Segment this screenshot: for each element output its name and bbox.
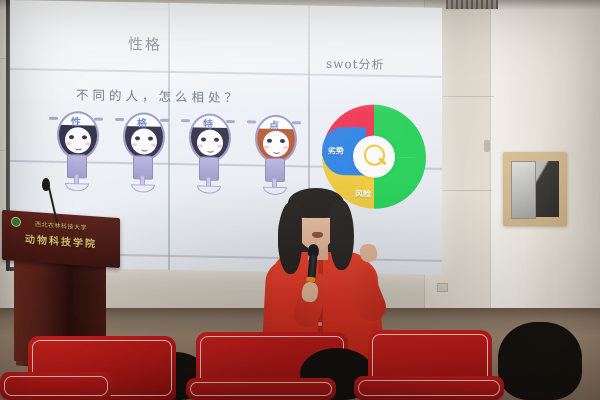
chair-seat-front bbox=[186, 378, 336, 400]
figure-blush-right bbox=[85, 142, 90, 145]
booth-window-sash bbox=[511, 161, 536, 219]
figure-label: 性 bbox=[54, 113, 98, 129]
figure-face bbox=[197, 129, 223, 155]
figure-face bbox=[65, 127, 91, 153]
ceiling-vent bbox=[446, 0, 498, 9]
audience-head bbox=[498, 322, 582, 400]
swot-center-circle bbox=[353, 135, 395, 178]
figure-face bbox=[131, 128, 157, 154]
figure-eye-right bbox=[214, 138, 219, 142]
figure-mouth bbox=[273, 149, 280, 154]
figure-blush-right bbox=[283, 146, 288, 149]
figure-label: 特 bbox=[186, 115, 230, 131]
presenter-hair-right bbox=[330, 200, 354, 270]
projection-booth-window bbox=[503, 152, 567, 226]
figure-mouth bbox=[75, 145, 82, 150]
wall-sensor-icon bbox=[484, 140, 490, 152]
microphone-capsule-icon bbox=[42, 178, 50, 191]
figure-mouth bbox=[141, 146, 148, 151]
cartoon-figure: 特 bbox=[186, 113, 230, 192]
figure-base bbox=[131, 184, 155, 192]
figure-base bbox=[65, 183, 89, 191]
figure-eye-right bbox=[280, 139, 285, 143]
figure-label: 格 bbox=[120, 114, 164, 130]
slide-title-left: 性格 bbox=[128, 33, 162, 55]
figure-base bbox=[197, 185, 221, 193]
figure-blush-left bbox=[198, 144, 203, 147]
slide-subtitle-left: 不同的人，怎么相处？ bbox=[76, 84, 241, 106]
figure-eye-left bbox=[267, 139, 272, 143]
lecture-hall-photo: 性格 不同的人，怎么相处？ 性 bbox=[0, 0, 600, 400]
chair-seat-front bbox=[0, 372, 112, 400]
chair-piping bbox=[4, 376, 108, 396]
wall-outlet-icon bbox=[437, 283, 448, 292]
figure-eye-left bbox=[201, 138, 206, 142]
chair-seat-front bbox=[354, 376, 504, 400]
figure-label: 点 bbox=[252, 116, 296, 132]
cartoon-figure: 格 bbox=[120, 112, 164, 191]
figure-mouth bbox=[207, 148, 214, 153]
figure-blush-left bbox=[264, 146, 269, 149]
slide-title-right: swot分析 bbox=[326, 55, 384, 73]
figure-blush-right bbox=[217, 145, 222, 148]
figure-eye-left bbox=[135, 136, 140, 140]
presenter-mouth bbox=[312, 232, 323, 238]
figure-blush-left bbox=[66, 142, 71, 145]
chair-piping bbox=[358, 380, 500, 396]
wall-seam-v1 bbox=[490, 0, 491, 330]
figure-face bbox=[263, 131, 289, 157]
microphone-gooseneck bbox=[48, 186, 58, 223]
booth-window-glass bbox=[511, 161, 559, 217]
swot-label-weakness: 劣势 bbox=[328, 145, 344, 156]
podium-gooseneck-microphone bbox=[38, 176, 64, 222]
vent-slats-icon bbox=[446, 0, 498, 9]
screen-seam-vertical-1 bbox=[168, 3, 170, 270]
figure-blush-right bbox=[151, 144, 156, 147]
shirt-button bbox=[318, 322, 322, 326]
figure-eye-right bbox=[148, 137, 153, 141]
presenter-hair-left bbox=[278, 202, 302, 274]
figure-eye-right bbox=[82, 135, 87, 139]
figure-blush-left bbox=[132, 143, 137, 146]
cartoon-figure: 点 bbox=[252, 114, 296, 193]
figure-eye-left bbox=[69, 135, 74, 139]
chair-piping bbox=[190, 382, 332, 396]
